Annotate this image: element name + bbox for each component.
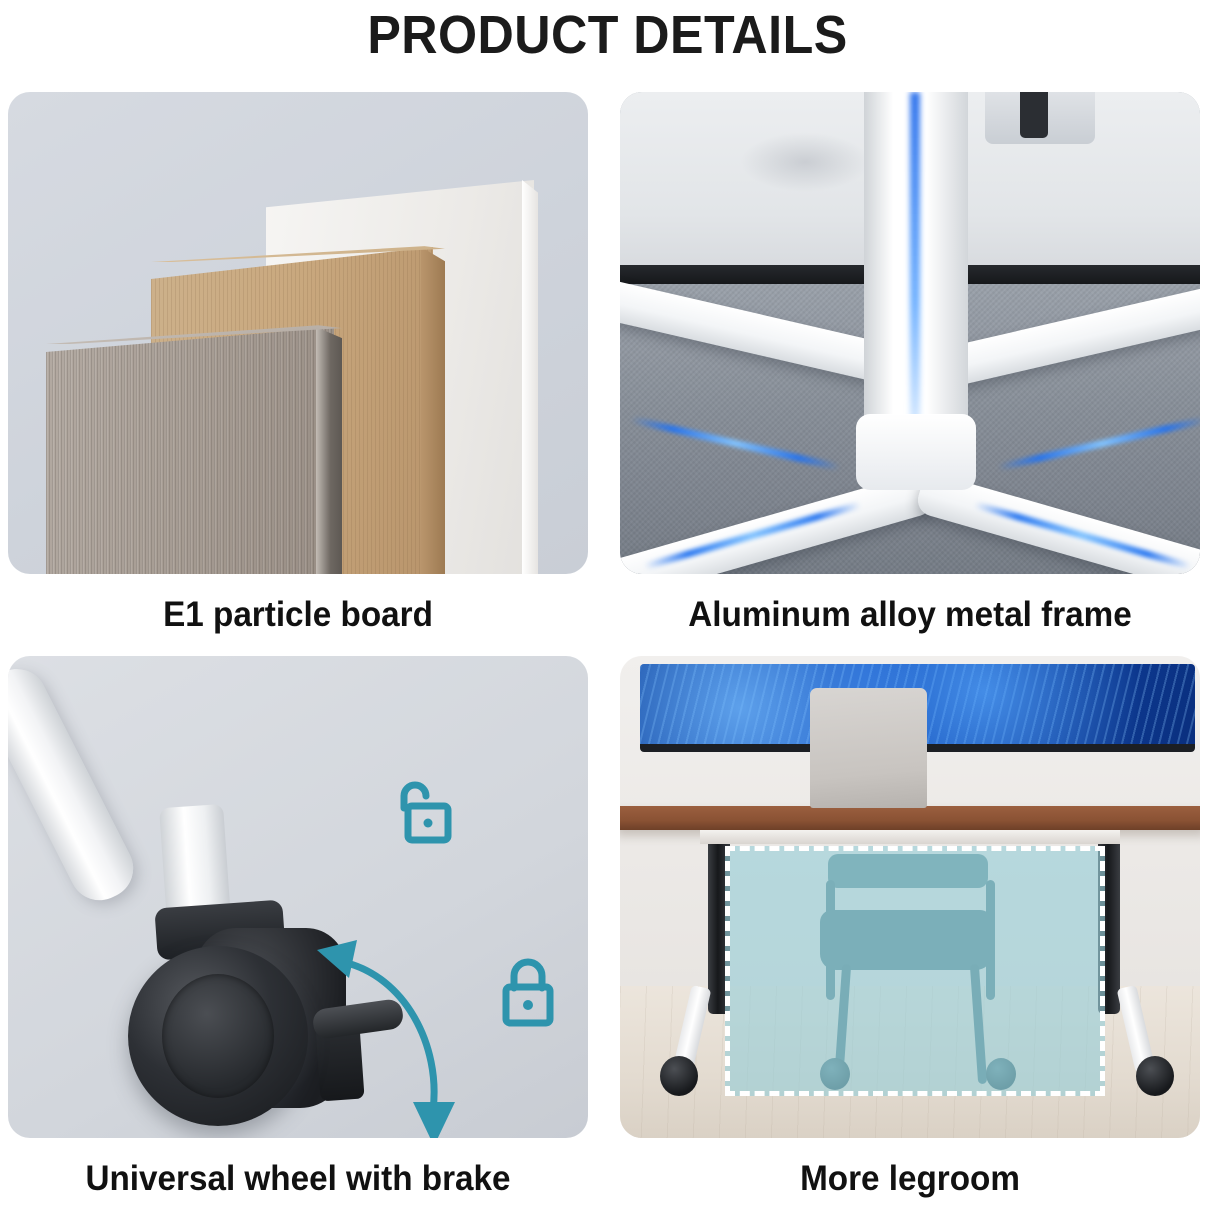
desk-tabletop	[620, 806, 1200, 830]
caster-wheel-hub	[162, 974, 274, 1098]
wall-bracket-dark-insert	[1020, 92, 1048, 138]
panel-image-particle-board	[8, 92, 588, 574]
caption-particle-board: E1 particle board	[23, 574, 574, 656]
unlock-icon	[390, 778, 452, 853]
desk-under-rail	[700, 830, 1120, 844]
detail-cell-universal-wheel: Universal wheel with brake	[8, 656, 588, 1220]
gray-laminate-board	[46, 327, 334, 574]
frame-hub-joint	[856, 414, 976, 490]
caption-universal-wheel: Universal wheel with brake	[23, 1138, 574, 1220]
desk-caster-left	[660, 1056, 698, 1096]
curved-arrow-icon	[313, 934, 473, 1138]
caption-aluminum-frame: Aluminum alloy metal frame	[635, 574, 1186, 656]
detail-cell-more-legroom: More legroom	[620, 656, 1200, 1220]
desk-caster-right	[1136, 1056, 1174, 1096]
gray-board-edge	[316, 327, 342, 574]
column-blue-glow	[910, 92, 920, 442]
table-leg-tube-upper	[8, 659, 144, 911]
page-title: PRODUCT DETAILS	[43, 0, 1173, 72]
laptop	[810, 688, 927, 808]
lock-icon	[498, 956, 560, 1033]
panel-image-aluminum-frame	[620, 92, 1200, 574]
detail-cell-aluminum-frame: Aluminum alloy metal frame	[620, 92, 1200, 656]
wall-shadow	[740, 132, 870, 192]
white-board-edge	[522, 180, 538, 574]
detail-cell-particle-board: E1 particle board	[8, 92, 588, 656]
caster-wheel	[128, 946, 308, 1126]
legroom-highlight-area	[725, 846, 1105, 1096]
panel-image-universal-wheel	[8, 656, 588, 1138]
panel-image-more-legroom	[620, 656, 1200, 1138]
oak-board-edge	[421, 247, 445, 574]
caption-more-legroom: More legroom	[635, 1138, 1186, 1220]
product-detail-grid: E1 particle board Aluminum alloy metal f…	[8, 92, 1207, 1220]
